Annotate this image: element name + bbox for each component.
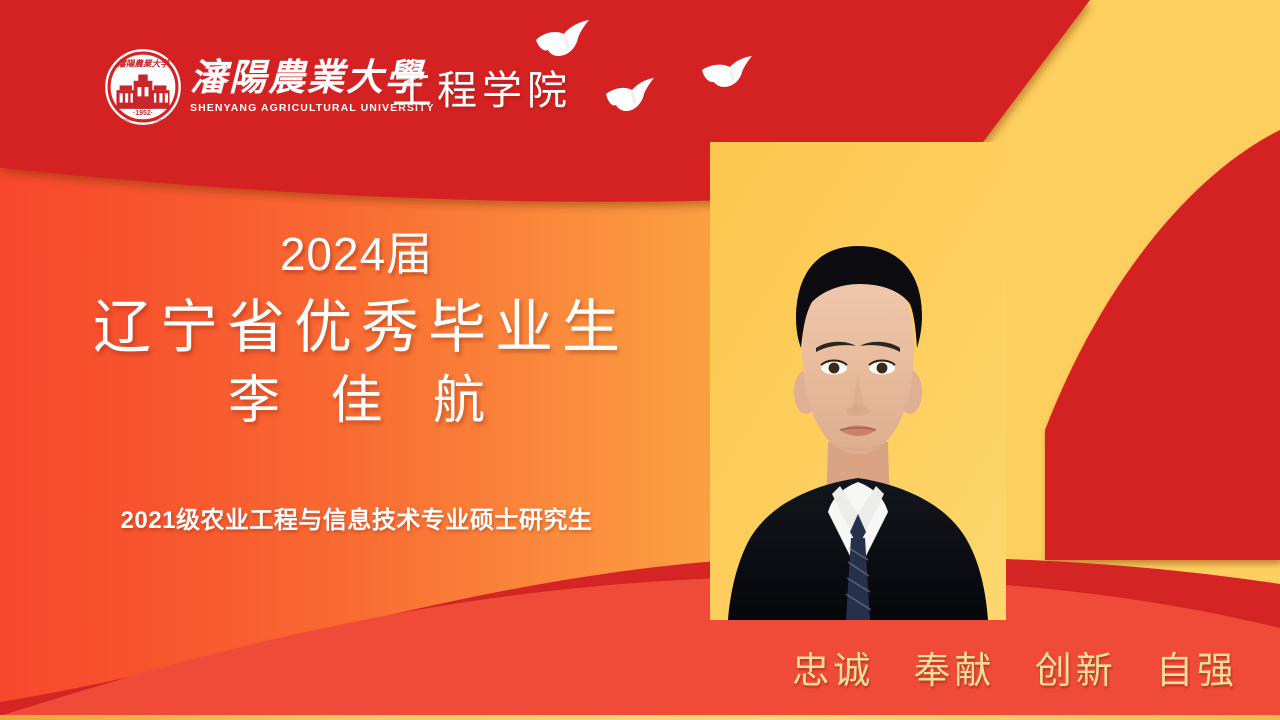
- graduate-portrait-photo: [710, 142, 1006, 620]
- motto-word-1: 忠诚: [792, 651, 874, 692]
- motto-word-3: 创新: [1035, 651, 1117, 692]
- svg-text:SHENYANG AGRICULTURAL UNIV.: SHENYANG AGRICULTURAL UNIV.: [110, 118, 176, 122]
- main-text-block: 2024届 辽宁省优秀毕业生 李 佳 航 2021级农业工程与信息技术专业硕士研…: [0, 228, 713, 433]
- dove-icon: [700, 54, 754, 92]
- college-name: 工程学院: [392, 58, 572, 116]
- svg-text:瀋陽農業大学: 瀋陽農業大学: [117, 59, 170, 69]
- award-title: 辽宁省优秀毕业生: [0, 293, 713, 363]
- graduate-name: 李 佳 航: [0, 370, 713, 432]
- university-emblem-icon: 瀋陽農業大学 ·1952· SHENYANG AGRICULTURAL UNIV…: [104, 48, 182, 126]
- university-motto: 忠诚 奉献 创新 自强: [792, 640, 1238, 694]
- poster-canvas: 瀋陽農業大学 ·1952· SHENYANG AGRICULTURAL UNIV…: [0, 0, 1280, 720]
- dove-icon: [604, 76, 656, 116]
- motto-word-4: 自强: [1156, 651, 1238, 692]
- bottom-gold-strip: [0, 715, 1280, 720]
- dove-icon: [534, 18, 592, 62]
- graduate-major: 2021级农业工程与信息技术专业硕士研究生: [0, 500, 713, 535]
- university-logo: 瀋陽農業大学 ·1952· SHENYANG AGRICULTURAL UNIV…: [104, 48, 435, 126]
- motto-word-2: 奉献: [914, 651, 996, 692]
- graduation-year: 2024届: [0, 228, 713, 281]
- emblem-year-text: ·1952·: [133, 110, 153, 117]
- right-red-curve: [1045, 130, 1280, 560]
